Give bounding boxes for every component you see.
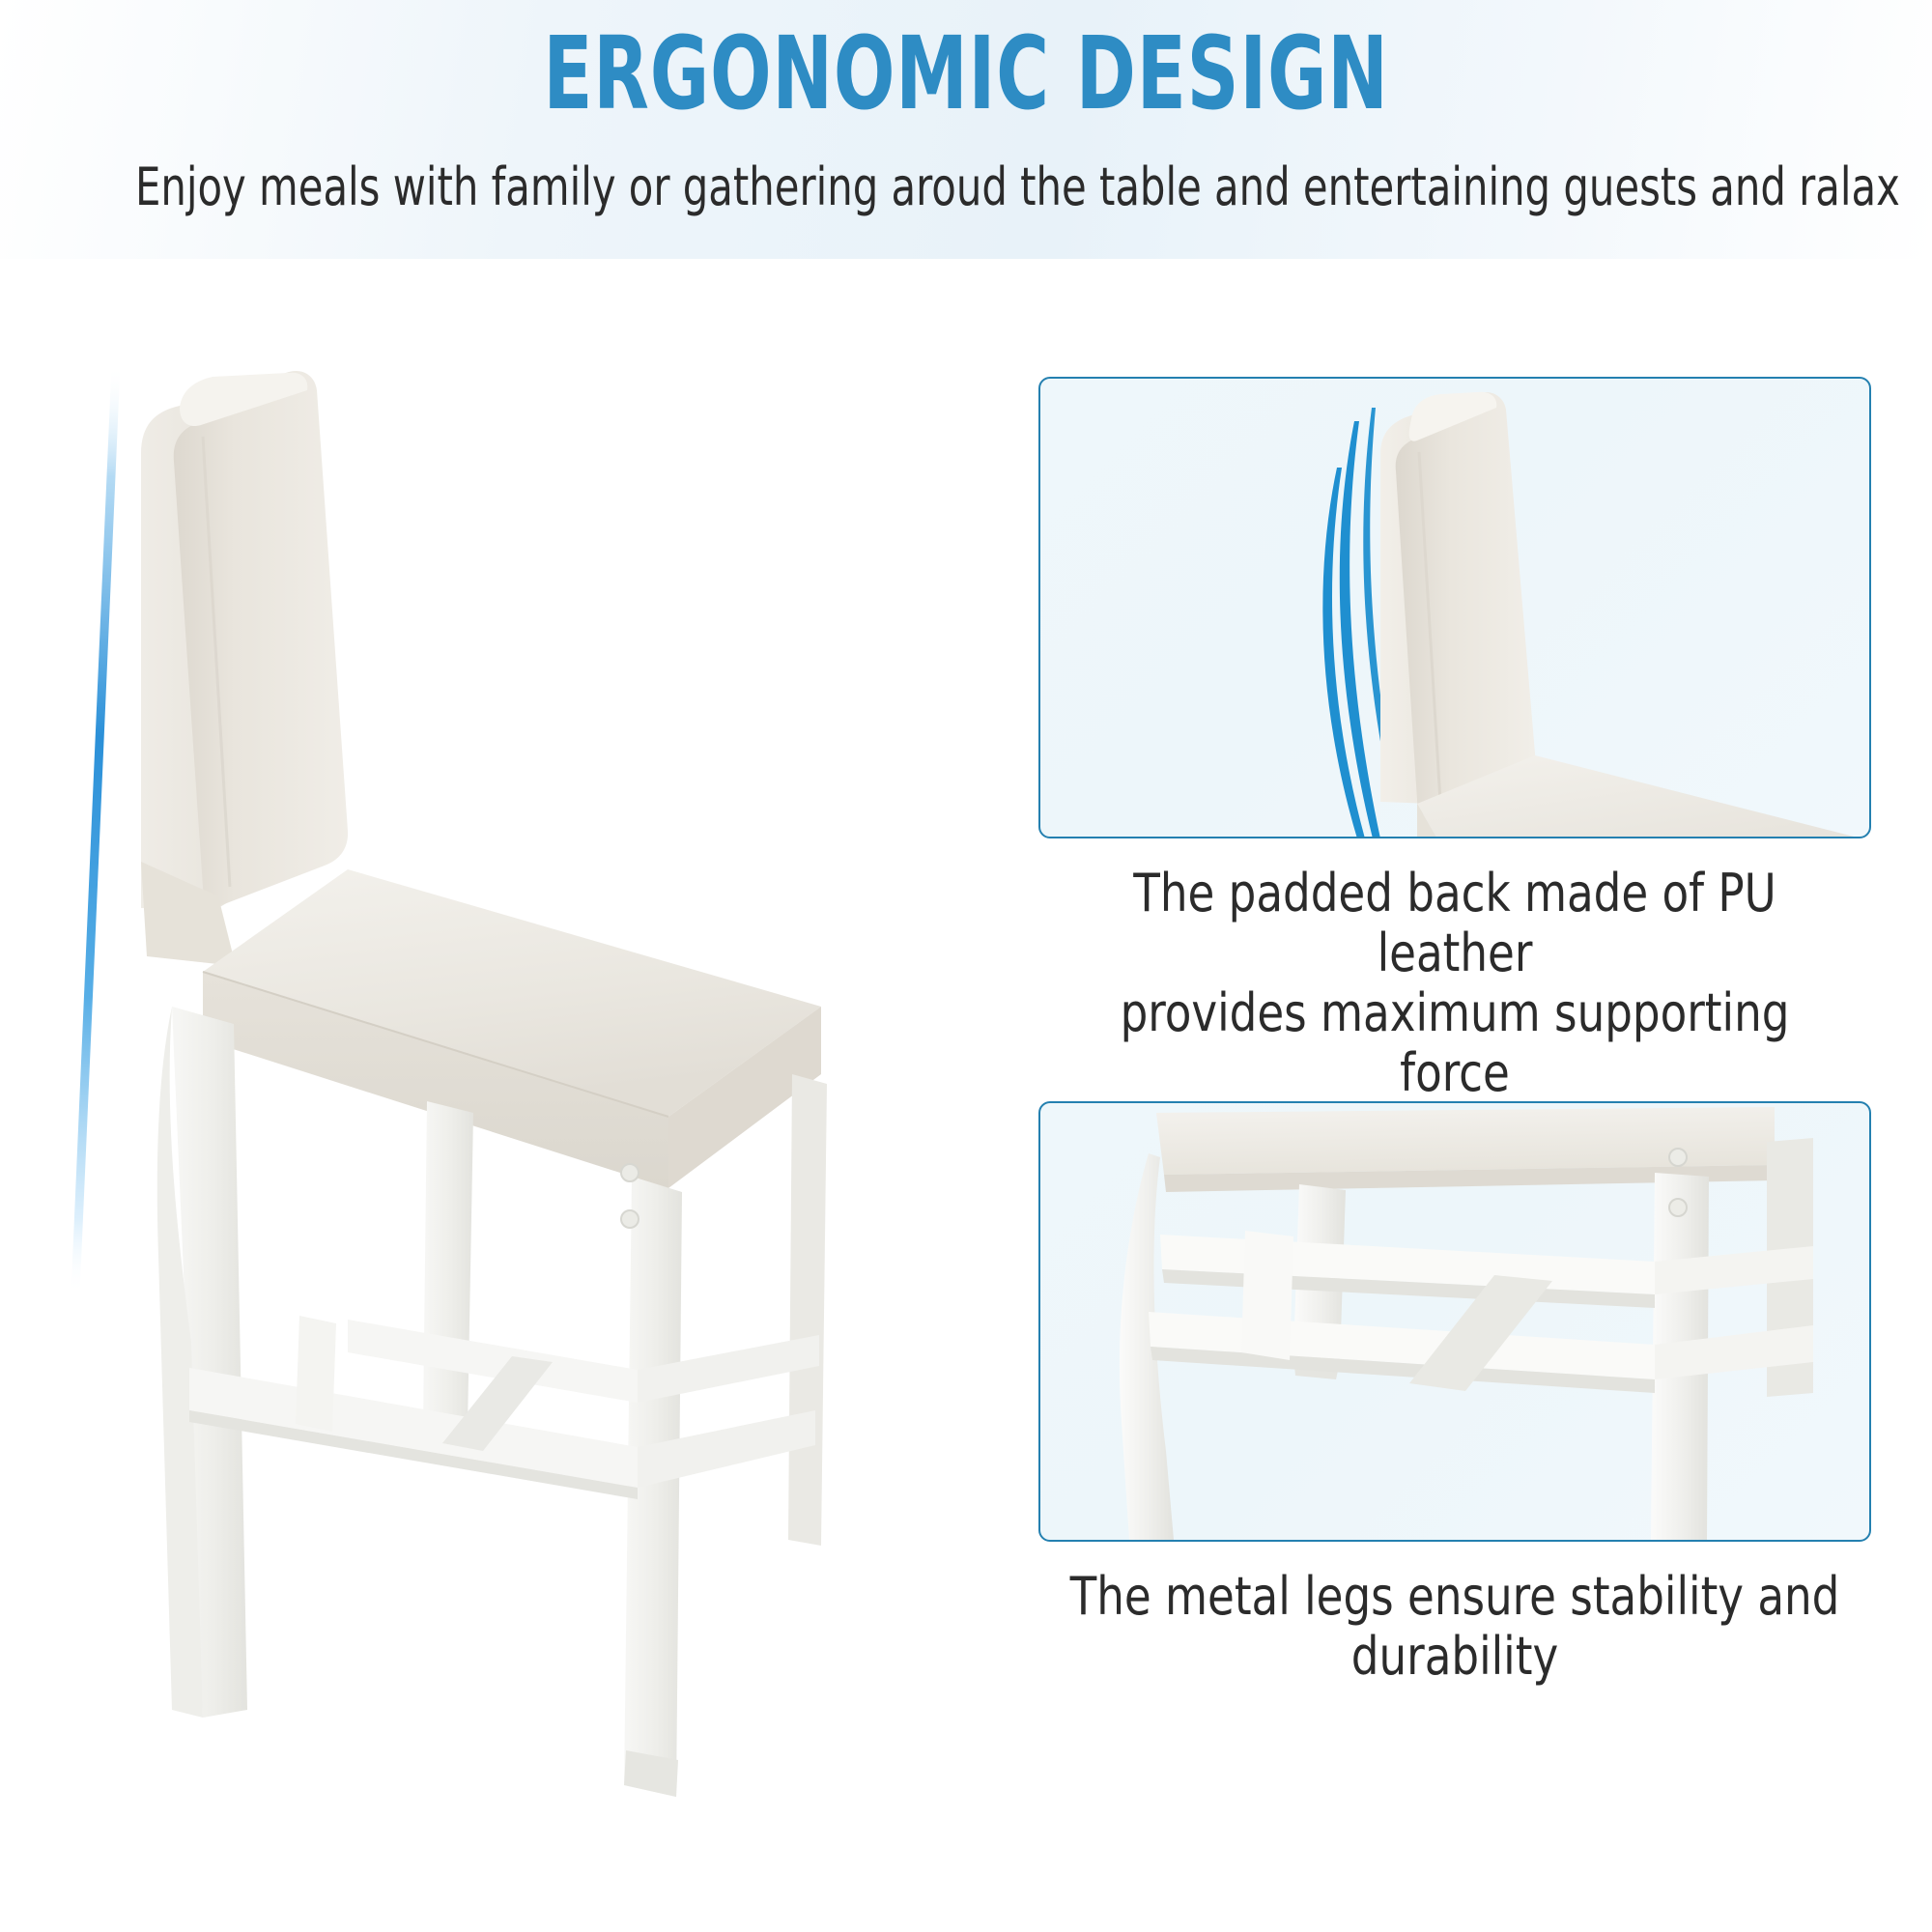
caption-line-2: durability — [1067, 1627, 1842, 1687]
caption-line-1: The padded back made of PU leather — [1067, 864, 1842, 983]
chair-back-detail-panel — [1038, 377, 1871, 838]
chair-legs-detail-illustration — [1040, 1103, 1869, 1540]
feature-column: The padded back made of PU leather provi… — [1038, 377, 1879, 1884]
feature-metal-legs: The metal legs ensure stability and dura… — [1038, 1101, 1871, 1687]
chair-back — [141, 371, 348, 966]
caption-line-1: The metal legs ensure stability and — [1067, 1567, 1842, 1627]
blue-accent-line — [75, 365, 116, 1294]
header-band: ERGONOMIC DESIGN Enjoy meals with family… — [0, 0, 1932, 259]
chair-back-detail-illustration — [1040, 379, 1869, 837]
feature-caption-padded-back: The padded back made of PU leather provi… — [1067, 864, 1842, 1103]
main-chair-illustration — [58, 290, 985, 1932]
main-product-image — [58, 290, 985, 1932]
page-subtitle: Enjoy meals with family or gathering aro… — [135, 158, 1797, 216]
feature-padded-back: The padded back made of PU leather provi… — [1038, 377, 1871, 1103]
infographic-page: ERGONOMIC DESIGN Enjoy meals with family… — [0, 0, 1932, 1932]
chair-seat — [203, 869, 821, 1188]
caption-line-2: provides maximum supporting force — [1067, 983, 1842, 1103]
page-title: ERGONOMIC DESIGN — [193, 21, 1739, 126]
feature-caption-metal-legs: The metal legs ensure stability and dura… — [1067, 1567, 1842, 1687]
chair-legs-detail-panel — [1038, 1101, 1871, 1542]
